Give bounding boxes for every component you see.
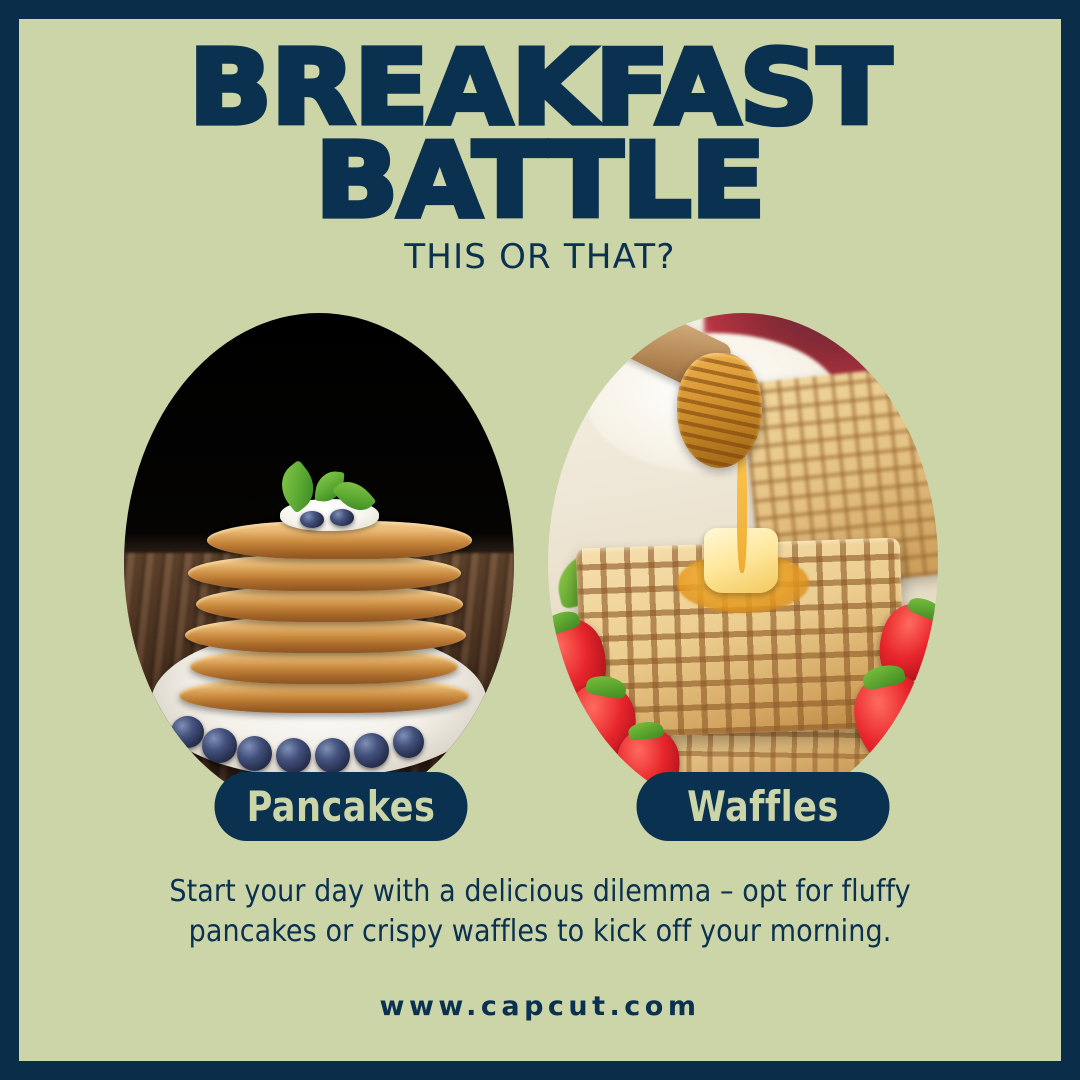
waffles-photo [548, 313, 938, 813]
option-label-pancakes[interactable]: Pancakes [215, 772, 468, 841]
pancakes-photo [124, 313, 514, 813]
option-image-waffles [548, 313, 938, 813]
blueberry [237, 736, 272, 771]
option-image-pancakes [124, 313, 514, 813]
pancake-layer [188, 555, 461, 591]
blueberry [330, 509, 355, 526]
blueberry [393, 726, 424, 759]
blueberry [276, 738, 311, 773]
pancake-layer [196, 586, 464, 622]
blueberry [354, 733, 389, 768]
pancake-stack [190, 473, 463, 713]
blueberry [315, 738, 350, 773]
blueberry [171, 716, 204, 749]
body-copy: Start your day with a delicious dilemma … [129, 872, 951, 952]
subtitle: THIS OR THAT? [19, 237, 1061, 277]
poster-canvas: BREAKFAST BATTLE THIS OR THAT? [19, 19, 1061, 1061]
option-label-waffles[interactable]: Waffles [637, 772, 890, 841]
page-title-line-1: BREAKFAST [19, 46, 1061, 130]
honey-dipper-head [677, 353, 763, 468]
pancake-layer [190, 648, 458, 684]
website-url: www.capcut.com [19, 991, 1061, 1022]
pancake-layer [185, 617, 466, 653]
blueberry [202, 728, 237, 763]
poster-frame: BREAKFAST BATTLE THIS OR THAT? [0, 0, 1080, 1080]
page-title-line-2: BATTLE [19, 139, 1061, 223]
honey-drizzle [737, 443, 747, 573]
